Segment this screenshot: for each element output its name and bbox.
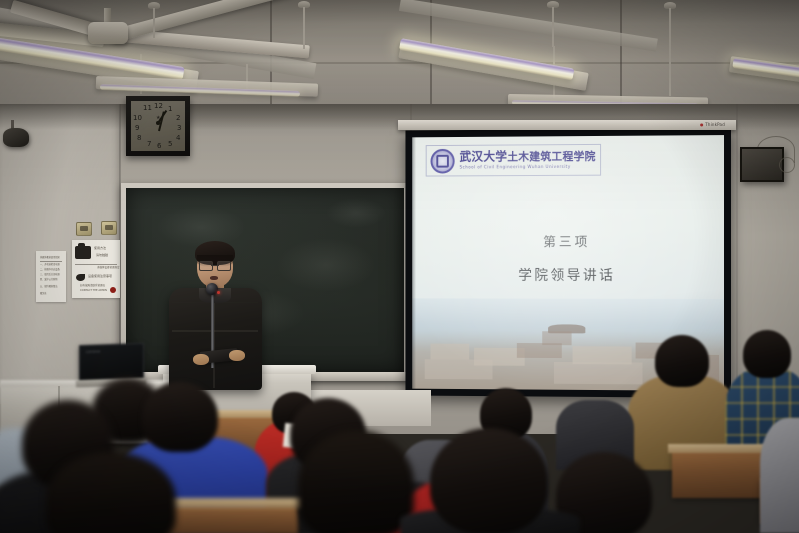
light-hanger-rod [552,7,554,47]
thinkpad-label: ● ThinkPad [700,122,725,127]
presenter-hand-right [229,350,245,361]
wall-clock: 12 1 2 3 4 5 6 7 8 9 10 11 ★ [126,96,190,156]
light-hanger-rod [153,8,155,38]
presenter-glasses-icon [199,261,231,269]
slide-item-number: 第三项 [412,231,724,250]
cable-loop-icon [779,157,795,173]
wall-notice-equipment: 使用方法 请勿触碰 多媒体设备管理规定 设备使用注意事项 如有故障请联系管理员 … [72,240,120,298]
laptop-lid: Lenovo [79,343,144,382]
laptop-brand-label: Lenovo [86,349,100,354]
blackboard [126,188,404,372]
ceiling [0,0,799,108]
slide-logo-header: 武汉大学土木建筑工程学院 School of Civil Engineering… [426,144,601,177]
presenter-hand-left [193,354,209,365]
wall-notice-instructions: 多媒体教室使用须知 一、开机前检查电源 二、按顺序开启设备 三、使用后关闭电源 … [36,251,66,302]
student-front-center-head [430,428,548,533]
presenter-jacket [169,288,262,390]
student-blue-shirt-head [142,382,218,452]
clock-face: 12 1 2 3 4 5 6 7 8 9 10 11 ★ [131,101,185,151]
lecture-hall-photo: 12 1 2 3 4 5 6 7 8 9 10 11 ★ 使用方法 请勿触碰 多… [0,0,799,533]
wall-speaker-icon [3,128,29,147]
student-tan-jacket-head [655,335,709,387]
wall-mounted-speaker-unit [740,147,784,182]
projector-screen-mount [398,120,736,130]
wuhan-university-seal-icon [431,148,455,173]
light-hanger-rod [669,8,671,96]
slide-item-title: 学院领导讲话 [412,265,724,285]
wall-outlet[interactable] [76,222,92,236]
light-hanger-rod [303,7,305,49]
student-long-hair-center [298,430,414,533]
microphone-led-indicator [217,291,220,294]
wall-seam [736,104,738,404]
student-gray-knit-body [760,418,799,533]
wall-switch[interactable] [101,221,117,235]
student-plaid-shirt-head [743,330,791,378]
slide-logo-chinese: 武汉大学土木建筑工程学院 [460,150,601,164]
presenter-mouth [210,276,218,280]
slide-logo-english: School of Civil Engineering Wuhan Univer… [460,163,601,171]
